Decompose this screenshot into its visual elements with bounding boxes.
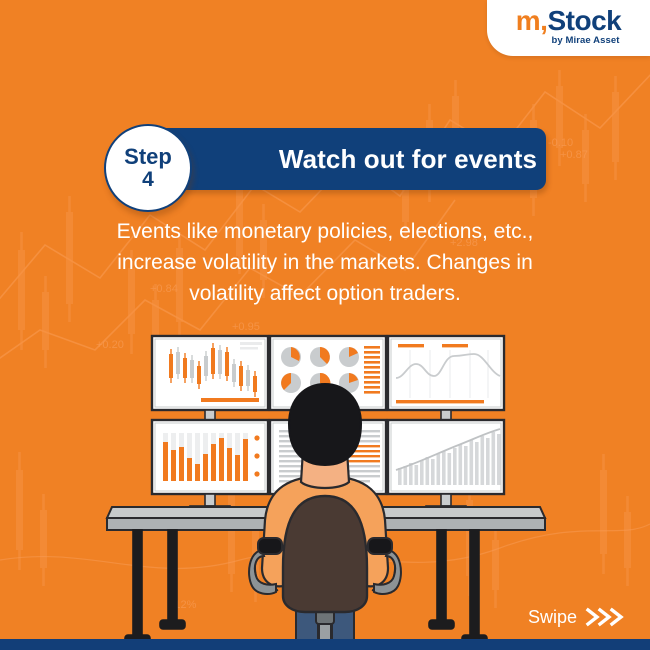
- logo-stock-text: Stock: [547, 5, 621, 36]
- watermark-label: +0.87: [560, 149, 588, 161]
- monitor-bottom-left: [152, 420, 268, 494]
- monitor-top-left: [152, 336, 268, 410]
- step-badge: Step 4: [104, 124, 192, 212]
- swipe-label: Swipe: [528, 607, 577, 628]
- watermark-label: -0.10: [548, 137, 573, 149]
- brand-logo-panel: m,Stock by Mirae Asset: [487, 0, 650, 56]
- slide-canvas: +0.84 +0.20 +0.95 +2.98 +0.87 +2.84 +0.8…: [0, 0, 650, 650]
- body-line-1: Events like monetary policies, elections…: [85, 216, 565, 247]
- bottom-accent-bar: [0, 639, 650, 650]
- body-copy: Events like monetary policies, elections…: [85, 216, 565, 309]
- step-label: Step: [124, 145, 172, 168]
- brand-logo-text: m,Stock: [487, 6, 650, 36]
- monitor-bottom-right: [388, 420, 504, 494]
- swipe-cta[interactable]: Swipe: [528, 606, 628, 628]
- body-line-2: increase volatility in the markets. Chan…: [85, 247, 565, 278]
- logo-subtitle: by Mirae Asset: [487, 35, 650, 46]
- swipe-chevrons-icon: [584, 606, 628, 628]
- monitor-top-right: [388, 336, 504, 410]
- trader-illustration: [0, 320, 650, 650]
- body-line-3: volatility affect option traders.: [85, 278, 565, 309]
- page-title: Watch out for events: [268, 128, 548, 190]
- step-title-row: Watch out for events Step 4: [104, 128, 546, 194]
- step-number: 4: [142, 168, 154, 191]
- title-bar: Watch out for events: [148, 128, 546, 190]
- logo-m-text: m,: [516, 5, 548, 36]
